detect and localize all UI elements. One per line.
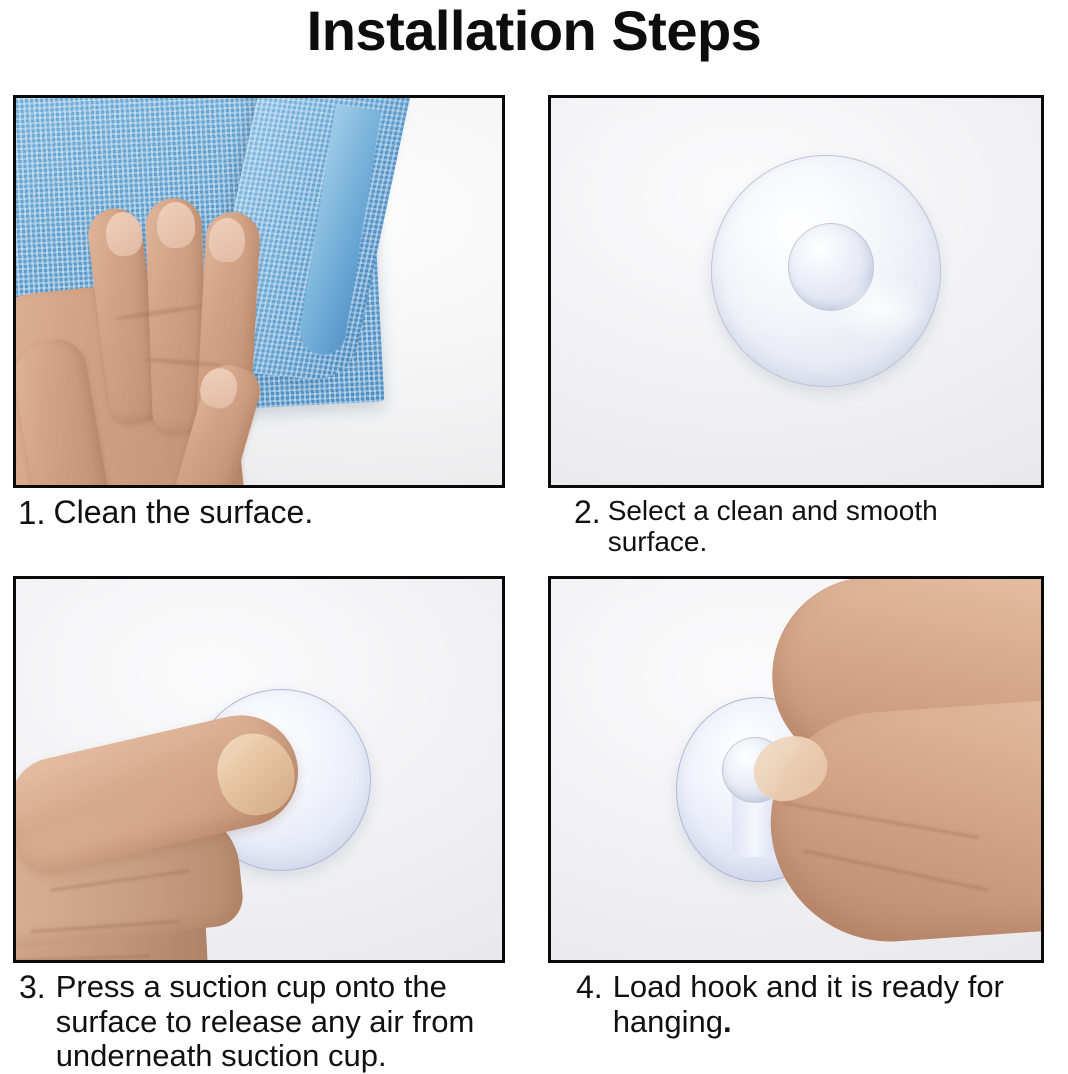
hand-loading-hook	[741, 576, 1044, 963]
suction-cup	[711, 155, 941, 387]
step-1-photo	[13, 95, 505, 488]
step-3: 3. Press a suction cup onto the surface …	[13, 576, 505, 1074]
step-2-photo	[548, 95, 1044, 488]
step-2-caption: 2. Select a clean and smooth surface.	[548, 495, 1044, 558]
installation-steps-grid: 1. Clean the surface. 2. Select a clean …	[0, 0, 1068, 1068]
step-3-photo	[13, 576, 505, 963]
step-2: 2. Select a clean and smooth surface.	[548, 95, 1044, 558]
step-3-text: Press a suction cup onto the surface to …	[56, 970, 486, 1074]
step-4-text: Load hook and it is ready for hanging.	[613, 970, 1033, 1039]
fingernail	[156, 201, 196, 248]
step-1-number: 1.	[18, 495, 46, 532]
step-1-caption: 1. Clean the surface.	[13, 495, 505, 532]
hand-wiping	[13, 190, 324, 488]
step-4: 4. Load hook and it is ready for hanging…	[548, 576, 1044, 1039]
step-4-text-period: .	[723, 1004, 732, 1039]
step-3-number: 3.	[19, 970, 46, 1006]
fingernail	[208, 217, 246, 263]
step-4-photo	[548, 576, 1044, 963]
step-3-caption: 3. Press a suction cup onto the surface …	[13, 970, 505, 1074]
step-1-text: Clean the surface.	[54, 495, 505, 531]
step-2-text: Select a clean and smooth surface.	[608, 495, 1044, 558]
hand-pressing-cup	[13, 729, 350, 963]
step-1: 1. Clean the surface.	[13, 95, 505, 532]
step-4-number: 4.	[576, 970, 603, 1006]
suction-cup-highlight	[831, 275, 931, 343]
step-4-text-main: Load hook and it is ready for hanging	[613, 969, 1004, 1039]
step-2-number: 2.	[574, 495, 601, 531]
step-4-caption: 4. Load hook and it is ready for hanging…	[548, 970, 1044, 1039]
